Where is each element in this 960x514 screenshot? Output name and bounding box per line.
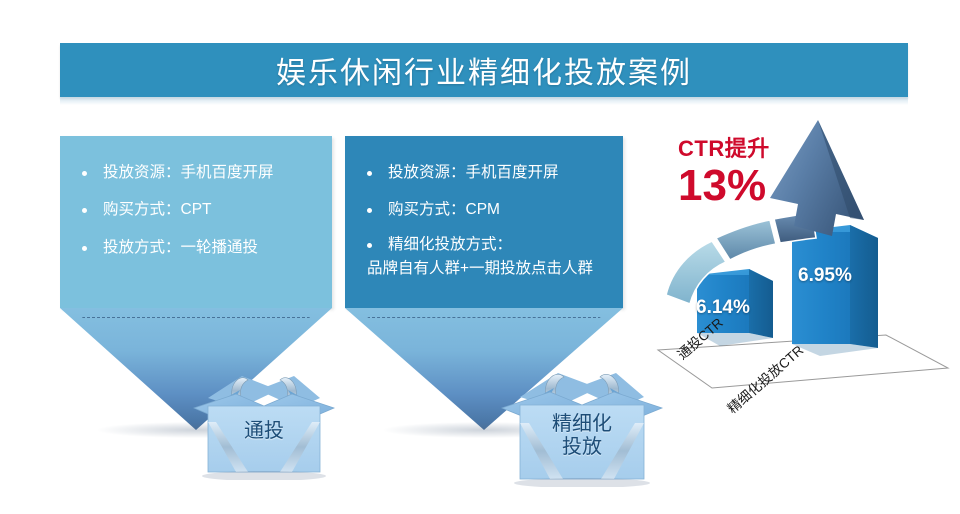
bullet-item: 精细化投放方式：	[363, 234, 607, 256]
bar-column-2	[792, 225, 878, 356]
bullet-dot-icon	[82, 208, 87, 213]
bullet-item: 投放资源：手机百度开屏	[78, 162, 316, 184]
ctr-uplift-label: CTR提升	[678, 138, 770, 160]
bullet-label: 投放资源：手机百度开屏	[388, 162, 559, 184]
bullet-item: 购买方式：CPM	[363, 199, 607, 221]
bullet-dot-icon	[82, 246, 87, 251]
slide-title-bar: 娱乐休闲行业精细化投放案例	[60, 43, 908, 97]
open-box-icon	[492, 355, 672, 487]
bullet-subline: 品牌自有人群+一期投放点击人群	[367, 258, 607, 280]
bullet-dot-icon	[367, 171, 372, 176]
bullet-label: 购买方式：CPT	[103, 199, 212, 221]
title-underline	[60, 97, 908, 105]
page-title: 娱乐休闲行业精细化投放案例	[60, 48, 908, 92]
bullet-label: 投放方式：一轮播通投	[103, 237, 258, 259]
bullet-item: 投放方式：一轮播通投	[78, 237, 316, 259]
bullet-dot-icon	[82, 171, 87, 176]
bullet-item: 投放资源：手机百度开屏	[363, 162, 607, 184]
open-box-tongtou: 通投	[182, 360, 346, 480]
ctr-bar-chart: CTR提升 13% 6.14% 6.95% 通投CTR 精细化投放CTR	[650, 110, 960, 510]
bullet-label: 购买方式：CPM	[388, 199, 500, 221]
bullet-dot-icon	[367, 208, 372, 213]
info-panel-refined: 投放资源：手机百度开屏 购买方式：CPM 精细化投放方式： 品牌自有人群+一期投…	[345, 136, 623, 308]
bullet-label: 精细化投放方式：	[388, 234, 512, 256]
open-box-refined: 精细化 投放	[492, 355, 672, 487]
bar-value-label-1: 6.14%	[696, 297, 750, 319]
slide-canvas: 娱乐休闲行业精细化投放案例 投放资源：手机百度开屏 购买方式：CPT 投放方式：…	[0, 0, 960, 514]
ctr-uplift-callout: CTR提升 13%	[678, 138, 770, 208]
ctr-uplift-value: 13%	[678, 164, 770, 208]
open-box-icon	[182, 360, 346, 480]
bullet-item: 购买方式：CPT	[78, 199, 316, 221]
bullet-label: 投放资源：手机百度开屏	[103, 162, 274, 184]
bullet-dot-icon	[367, 243, 372, 248]
info-panel-tongtou: 投放资源：手机百度开屏 购买方式：CPT 投放方式：一轮播通投	[60, 136, 332, 308]
bar-value-label-2: 6.95%	[798, 265, 852, 287]
